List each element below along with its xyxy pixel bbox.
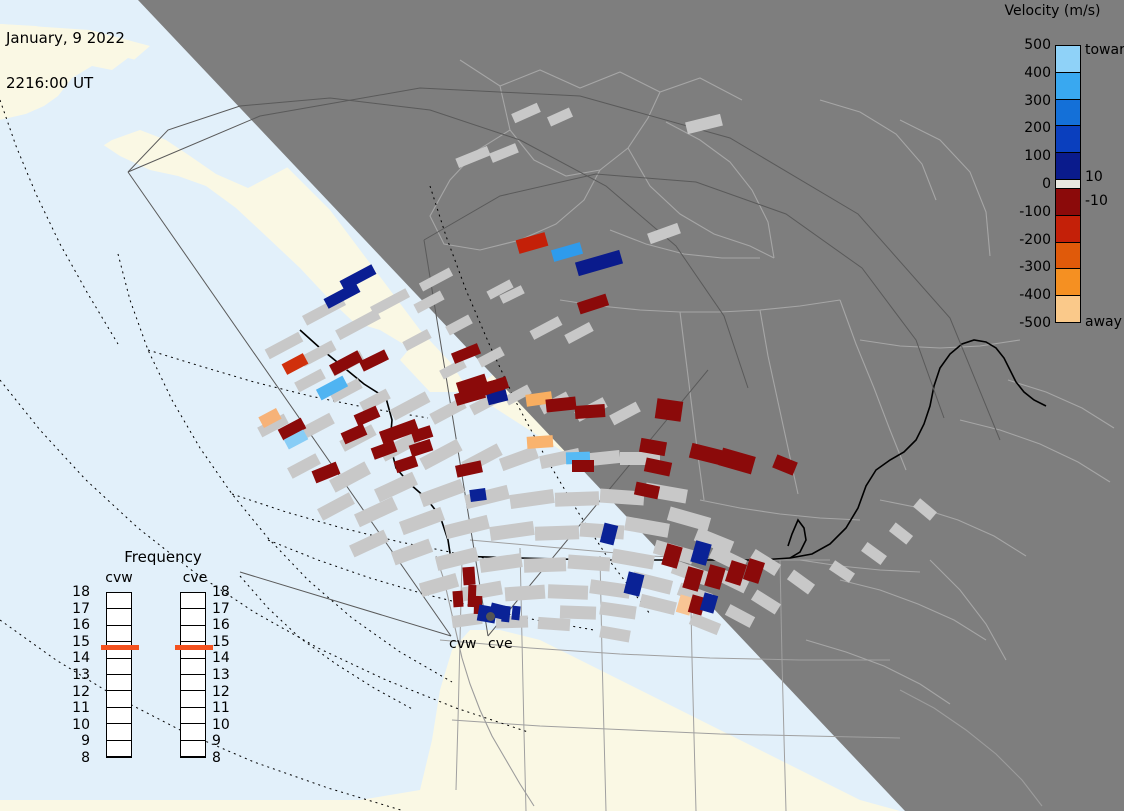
colorbar-swatch xyxy=(1056,73,1080,100)
colorbar-gradient xyxy=(1055,45,1081,323)
frequency-bar-cve xyxy=(180,592,206,758)
frequency-cell xyxy=(107,708,131,724)
colorbar-tick-label: 100 xyxy=(1001,149,1051,163)
frequency-cell xyxy=(181,659,205,675)
frequency-scale-label: 16 xyxy=(212,618,234,632)
colorbar-tick-label: 400 xyxy=(1001,66,1051,80)
colorbar-swatch xyxy=(1056,216,1080,243)
frequency-scale-label: 13 xyxy=(68,668,90,682)
frequency-scale-label: 11 xyxy=(212,701,234,715)
frequency-legend-title: Frequency xyxy=(88,548,238,566)
colorbar-toward-label: toward xyxy=(1085,43,1124,57)
superdarn-velocity-map: January, 9 2022 2216:00 UT cvw cve Veloc… xyxy=(0,0,1124,811)
frequency-cell xyxy=(107,609,131,625)
frequency-scale-label: 12 xyxy=(68,685,90,699)
frequency-scale-label: 13 xyxy=(212,668,234,682)
ground-scatter-cell xyxy=(535,525,579,541)
frequency-scale-label: 12 xyxy=(212,685,234,699)
ground-scatter-cell xyxy=(538,617,571,631)
colorbar-away-label: away xyxy=(1085,315,1122,329)
frequency-scale-label: 9 xyxy=(68,734,90,748)
colorbar-threshold-upper: 10 xyxy=(1085,170,1103,184)
ground-scatter-cell xyxy=(560,605,596,619)
frequency-scale-label: 17 xyxy=(68,602,90,616)
velocity-cell xyxy=(469,488,487,502)
colorbar-swatch xyxy=(1056,126,1080,153)
frequency-column-header-cvw: cvw xyxy=(96,570,142,586)
frequency-cell xyxy=(181,691,205,707)
frequency-marker xyxy=(175,645,213,650)
colorbar-tick-label: -100 xyxy=(1001,205,1051,219)
colorbar-swatch xyxy=(1056,180,1080,189)
frequency-cell xyxy=(107,741,131,757)
frequency-scale-label: 15 xyxy=(68,635,90,649)
colorbar-tick-label: 300 xyxy=(1001,94,1051,108)
frequency-cell xyxy=(181,626,205,642)
velocity-cell xyxy=(511,606,520,621)
velocity-cell xyxy=(462,567,475,586)
frequency-scale-label: 15 xyxy=(212,635,234,649)
colorbar-tick-label: -200 xyxy=(1001,233,1051,247)
frequency-cell xyxy=(107,659,131,675)
colorbar-threshold-lower: -10 xyxy=(1085,194,1108,208)
colorbar-swatch xyxy=(1056,243,1080,270)
radar-site-marker xyxy=(486,612,495,621)
frequency-scale-label: 8 xyxy=(68,751,90,765)
ground-scatter-cell xyxy=(524,557,566,572)
colorbar-tick-label: 200 xyxy=(1001,121,1051,135)
colorbar-title: Velocity (m/s) xyxy=(981,3,1124,19)
velocity-cell xyxy=(572,460,594,472)
velocity-cell xyxy=(501,606,511,623)
velocity-cell xyxy=(527,435,554,449)
timestamp-date: January, 9 2022 xyxy=(6,31,125,46)
frequency-scale-cve: 18171615141312111098 xyxy=(212,592,234,758)
frequency-scale-cvw: 18171615141312111098 xyxy=(68,592,90,758)
frequency-scale-label: 14 xyxy=(68,651,90,665)
frequency-cell xyxy=(181,708,205,724)
colorbar-tick-labels: 5004003002001000-100-200-300-400-500 xyxy=(989,45,1051,323)
frequency-scale-label: 17 xyxy=(212,602,234,616)
colorbar-tick-label: 500 xyxy=(1001,38,1051,52)
frequency-bar-cvw xyxy=(106,592,132,758)
frequency-scale-label: 10 xyxy=(68,718,90,732)
ground-scatter-cell xyxy=(505,585,546,602)
frequency-cell xyxy=(107,691,131,707)
ground-scatter-cell xyxy=(555,491,599,507)
colorbar-swatch xyxy=(1056,100,1080,127)
ground-scatter-cell xyxy=(568,555,611,572)
frequency-cell xyxy=(107,724,131,740)
colorbar-swatch xyxy=(1056,46,1080,73)
frequency-scale-label: 14 xyxy=(212,651,234,665)
timestamp-time: 2216:00 UT xyxy=(6,76,125,91)
frequency-scale-label: 18 xyxy=(212,585,234,599)
frequency-marker xyxy=(101,645,139,650)
velocity-cell xyxy=(655,398,684,421)
colorbar-tick-label: -500 xyxy=(1001,316,1051,330)
colorbar-tick-label: -400 xyxy=(1001,288,1051,302)
ground-scatter-cell xyxy=(548,584,588,599)
radar-site-label-cvw: cvw xyxy=(449,636,476,652)
frequency-scale-label: 18 xyxy=(68,585,90,599)
velocity-cell xyxy=(452,591,463,608)
colorbar-swatch xyxy=(1056,153,1080,180)
frequency-cell xyxy=(181,741,205,757)
colorbar-swatch xyxy=(1056,189,1080,216)
colorbar-tick-label: 0 xyxy=(1001,177,1051,191)
frequency-legend-panel: Frequency cvw 18171615141312111098 cve 1… xyxy=(88,548,238,788)
frequency-cell xyxy=(107,626,131,642)
frequency-scale-label: 9 xyxy=(212,734,234,748)
frequency-scale-label: 16 xyxy=(68,618,90,632)
timestamp-block: January, 9 2022 2216:00 UT xyxy=(6,1,125,121)
radar-site-label-cve: cve xyxy=(488,636,513,652)
frequency-cell xyxy=(107,675,131,691)
frequency-cell xyxy=(107,593,131,609)
colorbar-swatch xyxy=(1056,296,1080,322)
frequency-cell xyxy=(181,609,205,625)
frequency-scale-label: 11 xyxy=(68,701,90,715)
colorbar-swatch xyxy=(1056,269,1080,296)
frequency-scale-label: 10 xyxy=(212,718,234,732)
colorbar-side-labels: toward 10 -10 away xyxy=(1085,45,1124,323)
colorbar-tick-label: -300 xyxy=(1001,260,1051,274)
frequency-cell xyxy=(181,675,205,691)
frequency-cell xyxy=(181,593,205,609)
frequency-scale-label: 8 xyxy=(212,751,234,765)
velocity-cell xyxy=(575,404,606,419)
velocity-colorbar-panel: Velocity (m/s) 5004003002001000-100-200-… xyxy=(975,0,1124,340)
frequency-cell xyxy=(181,724,205,740)
